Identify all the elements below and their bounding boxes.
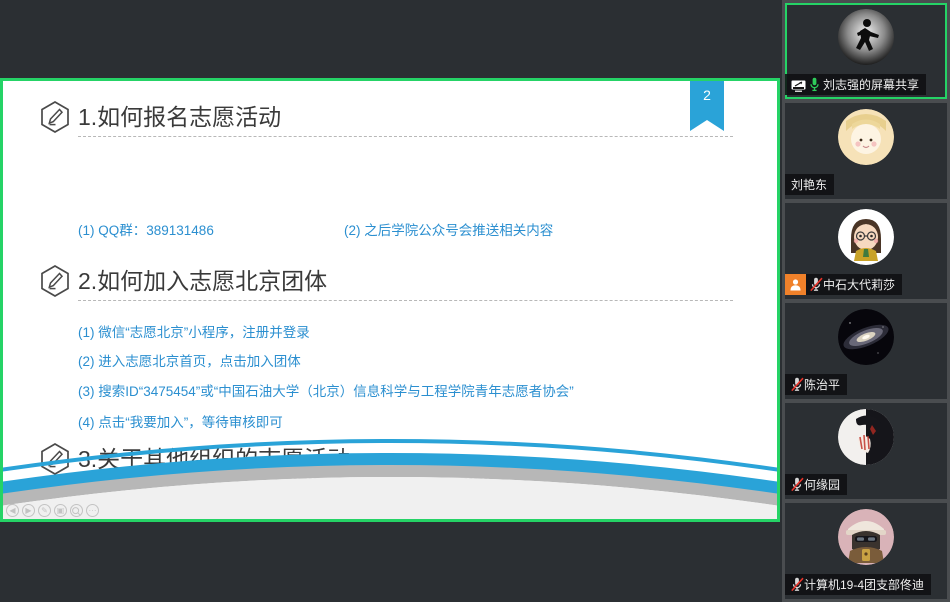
pen-annotate-button[interactable]: ✎ [38, 504, 51, 517]
shared-screen-stage: 2 1.如何报名志愿 [0, 0, 782, 578]
participant-tile[interactable]: 中石大代莉莎 [785, 203, 947, 299]
slide-page-number: 2 [703, 87, 711, 103]
next-slide-button[interactable]: ▶ [22, 504, 35, 517]
section-2-heading: 2.如何加入志愿北京团体 [78, 270, 327, 293]
participant-tile[interactable]: 陈治平 [785, 303, 947, 399]
participant-name: 刘艳东 [791, 176, 827, 193]
microphone-muted-icon [791, 377, 800, 392]
host-badge-icon [785, 274, 806, 295]
participant-tile[interactable]: 刘艳东 [785, 103, 947, 199]
participant-tile[interactable]: 计算机19-4团支部佟迪 [785, 503, 947, 599]
participant-name: 计算机19-4团支部佟迪 [804, 576, 924, 593]
anime-dark-avatar [838, 409, 894, 465]
slide-content: 1.如何报名志愿活动 (1) QQ群：389131486 (2) 之后学院公众号… [0, 78, 780, 522]
section-2-bullet-4: (4) 点击“我要加入”，等待审核即可 [78, 416, 283, 430]
participant-status-bar: 刘志强的屏幕共享 [785, 74, 926, 95]
galaxy-avatar [838, 309, 894, 365]
hexagon-pencil-icon [38, 264, 72, 298]
slide-section-1: 1.如何报名志愿活动 [38, 100, 281, 134]
anime-hat-avatar [838, 509, 894, 565]
microphone-muted-icon [810, 277, 819, 292]
section-1-underline [78, 136, 733, 137]
section-2-heading-row: 2.如何加入志愿北京团体 [38, 264, 327, 298]
section-1-bullet-1: (1) QQ群：389131486 [78, 224, 214, 238]
microphone-muted-icon [791, 477, 800, 492]
hexagon-pencil-icon [38, 100, 72, 134]
microphone-muted-icon [791, 577, 800, 592]
prev-slide-button[interactable]: ◀ [6, 504, 19, 517]
section-1-heading-row: 1.如何报名志愿活动 [38, 100, 281, 134]
microphone-on-icon [810, 77, 819, 92]
participant-sidebar[interactable]: 刘志强的屏幕共享 刘艳东 [782, 0, 950, 602]
section-2-bullet-2: (2) 进入志愿北京首页，点击加入团体 [78, 355, 301, 369]
runner-avatar [838, 9, 894, 65]
participant-status-bar: 何缘园 [785, 474, 847, 495]
highlight-button[interactable]: ▣ [54, 504, 67, 517]
participant-name: 陈治平 [804, 376, 840, 393]
zoom-meeting-window: 2 1.如何报名志愿 [0, 0, 950, 602]
participant-tile[interactable]: 何缘园 [785, 403, 947, 499]
participant-status-bar: 陈治平 [785, 374, 847, 395]
participant-status-bar: 中石大代莉莎 [785, 274, 902, 295]
participant-name: 刘志强的屏幕共享 [823, 76, 919, 93]
zoom-button[interactable] [70, 504, 83, 517]
participant-name: 中石大代莉莎 [823, 276, 895, 293]
section-1-bullet-2: (2) 之后学院公众号会推送相关内容 [344, 224, 553, 238]
slide-page-badge: 2 [690, 78, 724, 120]
participant-name: 何缘园 [804, 476, 840, 493]
participant-status-bar: 刘艳东 [785, 174, 834, 195]
screen-share-icon [791, 79, 806, 91]
section-2-underline [78, 300, 733, 301]
section-2-bullet-3: (3) 搜索ID“3475454”或“中国石油大学（北京）信息科学与工程学院青年… [78, 385, 574, 399]
cartoon-girl-glasses-avatar [838, 209, 894, 265]
ppt-presenter-toolbar[interactable]: ◀ ▶ ✎ ▣ ··· [6, 504, 99, 517]
shared-content-frame[interactable]: 2 1.如何报名志愿 [0, 78, 780, 522]
slide-section-2: 2.如何加入志愿北京团体 [38, 264, 327, 298]
slide-wave-decoration [0, 432, 780, 522]
participant-tile[interactable]: 刘志强的屏幕共享 [785, 3, 947, 99]
section-2-bullet-1: (1) 微信“志愿北京”小程序，注册并登录 [78, 326, 310, 340]
cartoon-blonde-avatar [838, 109, 894, 165]
more-options-button[interactable]: ··· [86, 504, 99, 517]
participant-status-bar: 计算机19-4团支部佟迪 [785, 574, 931, 595]
section-1-heading: 1.如何报名志愿活动 [78, 106, 281, 129]
presentation-slide[interactable]: 2 1.如何报名志愿 [0, 78, 780, 522]
